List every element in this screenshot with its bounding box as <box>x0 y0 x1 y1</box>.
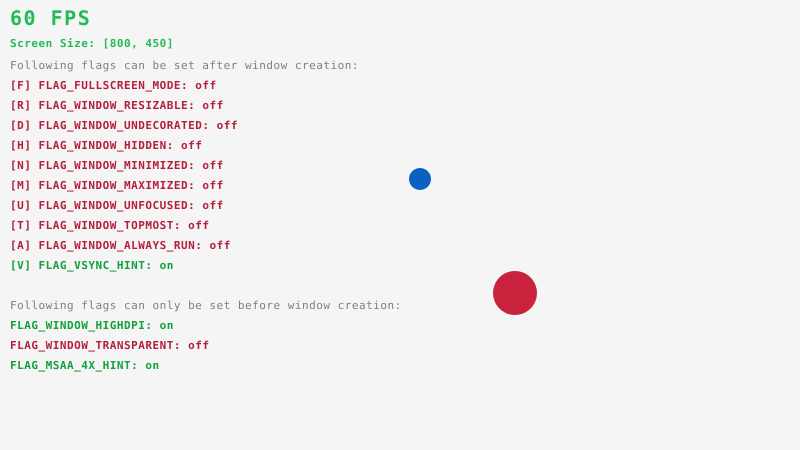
flag-name: FLAG_MSAA_4X_HINT: <box>10 359 145 372</box>
flag-name: FLAG_WINDOW_MAXIMIZED: <box>39 179 203 192</box>
flag-state: off <box>188 339 209 352</box>
flag-state: off <box>202 159 223 172</box>
flag-name: FLAG_WINDOW_TOPMOST: <box>39 219 189 232</box>
flag-hotkey: [T] <box>10 219 39 232</box>
flag-hotkey: [V] <box>10 259 39 272</box>
flag-state: off <box>195 79 216 92</box>
runtime-flag-row[interactable]: [R] FLAG_WINDOW_RESIZABLE: off <box>10 99 224 112</box>
creation-flags-header: Following flags can only be set before w… <box>10 299 402 312</box>
runtime-flag-row[interactable]: [F] FLAG_FULLSCREEN_MODE: off <box>10 79 217 92</box>
flag-state: off <box>181 139 202 152</box>
screen-size-label: Screen Size: [800, 450] <box>10 37 174 50</box>
runtime-flag-row[interactable]: [T] FLAG_WINDOW_TOPMOST: off <box>10 219 209 232</box>
flag-state: off <box>188 219 209 232</box>
raylib-window: 60 FPS Screen Size: [800, 450] Following… <box>0 0 800 450</box>
hud-layer: 60 FPS Screen Size: [800, 450] Following… <box>0 0 800 450</box>
runtime-flag-row[interactable]: [M] FLAG_WINDOW_MAXIMIZED: off <box>10 179 224 192</box>
runtime-flag-row[interactable]: [D] FLAG_WINDOW_UNDECORATED: off <box>10 119 238 132</box>
flag-name: FLAG_WINDOW_UNFOCUSED: <box>39 199 203 212</box>
flag-hotkey: [F] <box>10 79 39 92</box>
fps-counter: 60 FPS <box>10 6 91 30</box>
flag-name: FLAG_WINDOW_ALWAYS_RUN: <box>39 239 210 252</box>
creation-flag-row[interactable]: FLAG_WINDOW_HIGHDPI: on <box>10 319 174 332</box>
flag-name: FLAG_FULLSCREEN_MODE: <box>39 79 196 92</box>
runtime-flag-row[interactable]: [N] FLAG_WINDOW_MINIMIZED: off <box>10 159 224 172</box>
runtime-flag-row[interactable]: [H] FLAG_WINDOW_HIDDEN: off <box>10 139 202 152</box>
flag-name: FLAG_WINDOW_UNDECORATED: <box>39 119 217 132</box>
flag-hotkey: [A] <box>10 239 39 252</box>
flag-hotkey: [H] <box>10 139 39 152</box>
flag-state: off <box>202 199 223 212</box>
flag-hotkey: [N] <box>10 159 39 172</box>
flag-hotkey: [U] <box>10 199 39 212</box>
runtime-flag-row[interactable]: [U] FLAG_WINDOW_UNFOCUSED: off <box>10 199 224 212</box>
runtime-flag-row[interactable]: [V] FLAG_VSYNC_HINT: on <box>10 259 174 272</box>
flag-name: FLAG_WINDOW_HIDDEN: <box>39 139 181 152</box>
creation-flag-row[interactable]: FLAG_WINDOW_TRANSPARENT: off <box>10 339 209 352</box>
runtime-flags-header: Following flags can be set after window … <box>10 59 359 72</box>
flag-name: FLAG_WINDOW_MINIMIZED: <box>39 159 203 172</box>
flag-state: on <box>160 319 174 332</box>
flag-state: off <box>209 239 230 252</box>
creation-flag-row[interactable]: FLAG_MSAA_4X_HINT: on <box>10 359 160 372</box>
flag-name: FLAG_WINDOW_HIGHDPI: <box>10 319 160 332</box>
flag-hotkey: [R] <box>10 99 39 112</box>
flag-state: off <box>202 99 223 112</box>
flag-hotkey: [D] <box>10 119 39 132</box>
flag-name: FLAG_VSYNC_HINT: <box>39 259 160 272</box>
flag-name: FLAG_WINDOW_RESIZABLE: <box>39 99 203 112</box>
flag-hotkey: [M] <box>10 179 39 192</box>
flag-name: FLAG_WINDOW_TRANSPARENT: <box>10 339 188 352</box>
runtime-flag-row[interactable]: [A] FLAG_WINDOW_ALWAYS_RUN: off <box>10 239 231 252</box>
flag-state: off <box>217 119 238 132</box>
flag-state: on <box>145 359 159 372</box>
flag-state: off <box>202 179 223 192</box>
flag-state: on <box>160 259 174 272</box>
